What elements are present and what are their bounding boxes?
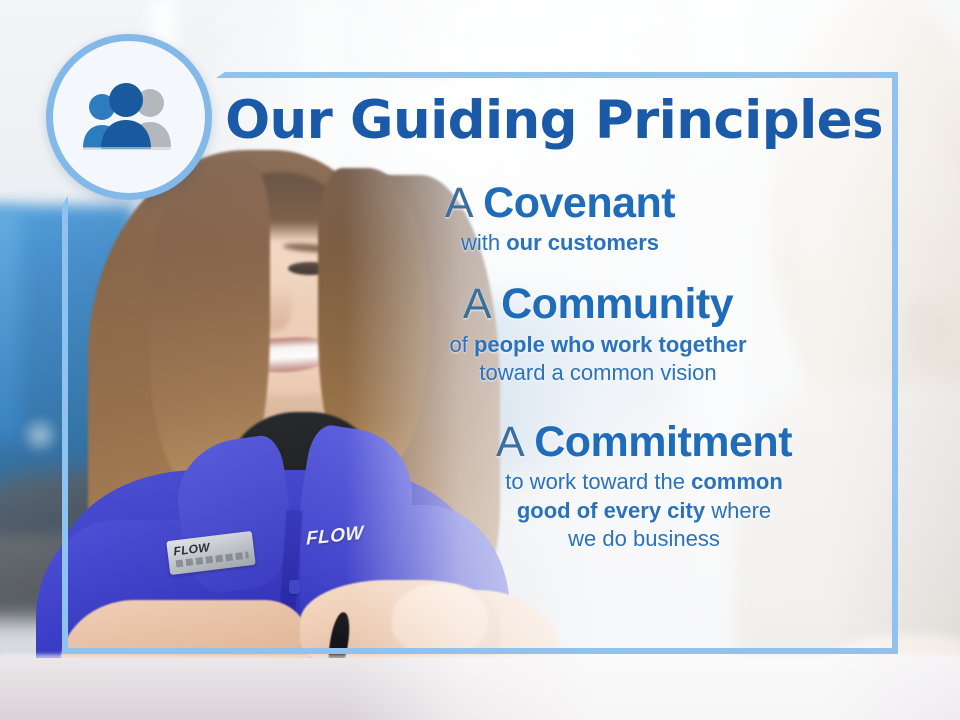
principle-keyword: Community <box>501 280 733 328</box>
principle-subtext: with our customers <box>260 229 860 257</box>
principle-community: A Community of people who work together … <box>290 281 890 387</box>
principle-covenant: A Covenant with our customers <box>290 180 890 257</box>
subtext-segment: toward a common vision <box>479 360 716 385</box>
principle-subtext-line: good of every city where <box>344 497 944 525</box>
principle-commitment: A Commitment to work toward the common g… <box>290 419 890 553</box>
principle-keyword: Commitment <box>534 418 792 466</box>
page-title: Our Guiding Principles <box>216 94 892 148</box>
principle-subtext: of people who work together toward a com… <box>298 331 898 387</box>
subtext-segment: of <box>449 332 473 357</box>
subtext-segment-bold: good of every city <box>517 498 705 523</box>
principle-subtext-line: with our customers <box>260 229 860 257</box>
principle-subtext-line: toward a common vision <box>298 359 898 387</box>
subtext-segment: with <box>461 230 506 255</box>
subtext-segment-bold: our customers <box>506 230 659 255</box>
principle-keyword: Covenant <box>483 179 675 227</box>
principle-heading: A Covenant <box>260 180 860 227</box>
principle-subtext-line: we do business <box>344 525 944 553</box>
people-group-badge <box>46 34 212 200</box>
principle-article: A <box>496 418 522 466</box>
principle-subtext: to work toward the common good of every … <box>344 468 944 552</box>
people-group-icon <box>77 81 181 153</box>
principle-heading: A Community <box>298 281 898 328</box>
principle-subtext-line: of people who work together <box>298 331 898 359</box>
subtext-segment: where <box>705 498 771 523</box>
principle-article: A <box>445 179 471 227</box>
poster-canvas: FLOW FLOW <box>0 0 960 720</box>
principles-list: A Covenant with our customers A Communit… <box>290 180 890 557</box>
subtext-segment-bold: people who work together <box>474 332 747 357</box>
principle-article: A <box>463 280 489 328</box>
principle-subtext-line: to work toward the common <box>344 468 944 496</box>
subtext-segment: to work toward the <box>505 469 691 494</box>
subtext-segment: we do business <box>568 526 720 551</box>
principle-heading: A Commitment <box>344 419 944 466</box>
subtext-segment-bold: common <box>691 469 783 494</box>
